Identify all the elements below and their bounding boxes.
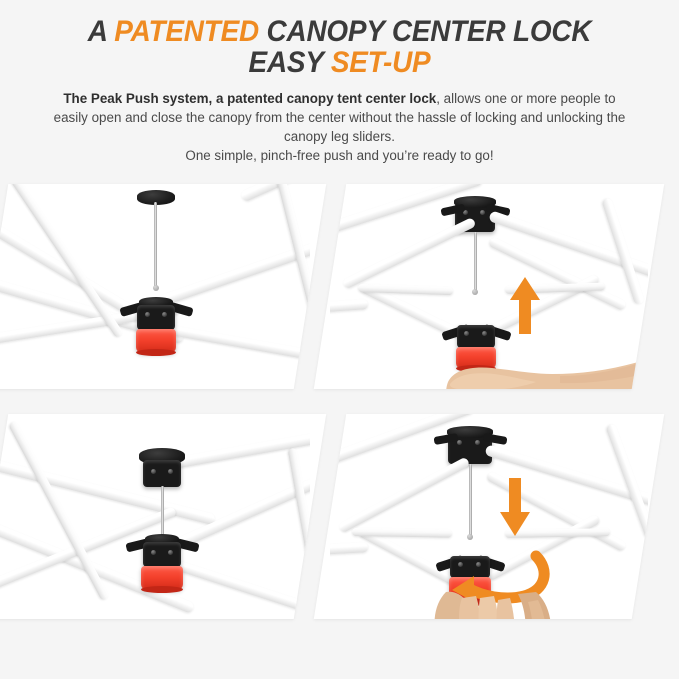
panel-bottom-left-image <box>0 414 310 619</box>
panel-bottom-right <box>314 414 664 619</box>
title-line2-part1: EASY <box>249 46 331 79</box>
frame-tube <box>163 324 310 369</box>
panel-top-right <box>314 184 664 389</box>
description-bold-lead: The Peak Push system, a patented canopy … <box>63 91 436 106</box>
hub-bolt <box>457 440 462 445</box>
title-line1-highlight: PATENTED <box>114 15 259 48</box>
upper-hub-body <box>143 460 181 487</box>
panel-top-right-image <box>330 184 648 389</box>
title-line1-part2: CANOPY CENTER LOCK <box>259 15 591 48</box>
push-rod <box>154 202 157 288</box>
hub-body <box>143 542 181 567</box>
hub-bolt <box>475 440 480 445</box>
hub-bolt <box>162 312 167 317</box>
hub-red-grip <box>141 566 183 590</box>
hub-bolt <box>145 312 150 317</box>
gripping-hands <box>428 588 588 619</box>
panel-bottom-left <box>0 414 326 619</box>
hub-body <box>137 305 175 330</box>
hub-body <box>457 325 495 348</box>
title-line2-highlight: SET-UP <box>331 46 431 79</box>
frame-tube <box>10 184 124 339</box>
hub-bolt <box>168 469 173 474</box>
push-rod-tip <box>153 285 159 291</box>
panel-top-left-image <box>0 184 310 389</box>
push-rod <box>469 464 472 538</box>
push-rod <box>161 486 164 540</box>
frame-tube <box>276 184 310 350</box>
hub-bolt <box>480 210 485 215</box>
hub-bolt <box>464 331 469 336</box>
title-line1-part1: A <box>88 15 115 48</box>
frame-tube <box>288 448 310 617</box>
title-line-2: EASY SET-UP <box>44 47 635 78</box>
header: A PATENTED CANOPY CENTER LOCK EASY SET-U… <box>0 0 679 166</box>
panel-top-left <box>0 184 326 389</box>
title-line-1: A PATENTED CANOPY CENTER LOCK <box>44 16 635 47</box>
hub-bolt <box>151 550 156 555</box>
frame-tube <box>342 217 477 290</box>
hub-bolt <box>482 331 487 336</box>
description-last-line: One simple, pinch-free push and you’re r… <box>185 148 493 163</box>
supporting-hand <box>440 352 648 389</box>
product-feature-page: A PATENTED CANOPY CENTER LOCK EASY SET-U… <box>0 0 679 679</box>
frame-tube <box>338 457 471 534</box>
frame-tube <box>158 226 310 306</box>
push-rod-tip <box>472 289 478 295</box>
hub-red-grip <box>136 329 176 353</box>
panel-bottom-right-image <box>330 414 648 619</box>
push-rod-tip <box>467 534 473 540</box>
description-text: The Peak Push system, a patented canopy … <box>22 89 657 165</box>
frame-tube <box>330 299 368 314</box>
frame-tube <box>161 420 310 471</box>
pull-down-arrow <box>498 476 532 538</box>
push-rod <box>474 232 477 292</box>
frame-tube <box>240 184 310 203</box>
page-title: A PATENTED CANOPY CENTER LOCK EASY SET-U… <box>44 16 635 78</box>
hub-bolt <box>151 469 156 474</box>
push-up-arrow <box>508 276 542 336</box>
feature-panel-grid <box>0 182 679 679</box>
frame-tube <box>330 542 368 556</box>
hub-bolt <box>168 550 173 555</box>
